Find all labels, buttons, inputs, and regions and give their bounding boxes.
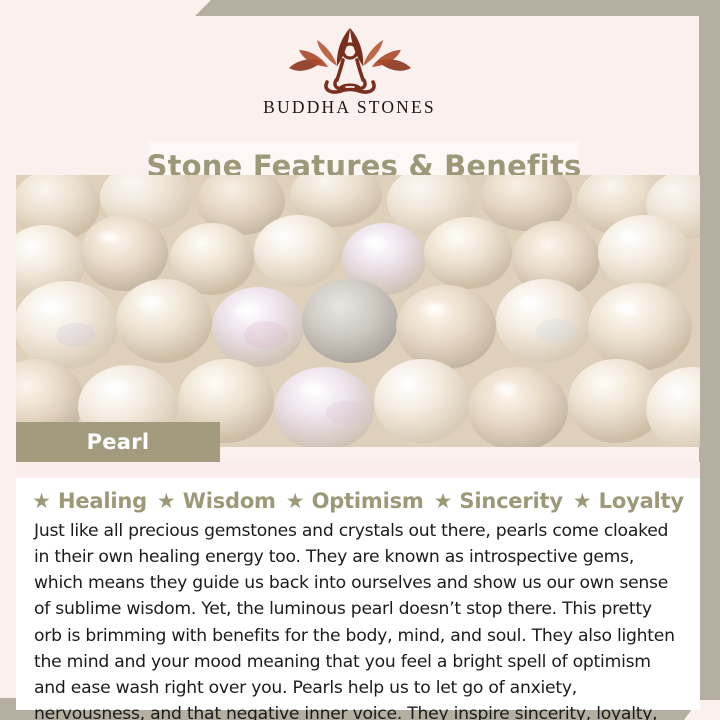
keyword-label: Loyalty xyxy=(599,489,684,513)
brand-name: BUDDHA STONES xyxy=(263,97,436,118)
separator-strip xyxy=(16,462,700,478)
stone-name-label: Pearl xyxy=(87,430,150,454)
hero-image xyxy=(16,175,700,447)
lotus-meditation-icon xyxy=(279,24,421,96)
description-paragraph: Just like all precious gemstones and cry… xyxy=(30,518,686,720)
keyword-sincerity: ★ Sincerity xyxy=(434,489,563,513)
content-card: ★ Healing ★ Wisdom ★ Optimism ★ Sincerit… xyxy=(16,478,700,710)
star-icon: ★ xyxy=(286,491,305,512)
keyword-wisdom: ★ Wisdom xyxy=(157,489,276,513)
poster: BUDDHA STONES Stone Features & Benefits xyxy=(0,0,720,720)
star-icon: ★ xyxy=(32,491,51,512)
star-icon: ★ xyxy=(434,491,453,512)
decorative-band-top xyxy=(195,0,720,16)
star-icon: ★ xyxy=(157,491,176,512)
star-icon: ★ xyxy=(573,491,592,512)
keyword-label: Optimism xyxy=(312,489,424,513)
poster-page: BUDDHA STONES Stone Features & Benefits xyxy=(0,16,699,698)
keyword-healing: ★ Healing xyxy=(32,489,147,513)
decorative-band-right xyxy=(699,0,720,700)
keyword-loyalty: ★ Loyalty xyxy=(573,489,684,513)
brand-header: BUDDHA STONES xyxy=(0,16,699,126)
keyword-label: Sincerity xyxy=(459,489,562,513)
pearl-photo xyxy=(16,175,700,447)
keyword-optimism: ★ Optimism xyxy=(286,489,424,513)
stone-name-chip: Pearl xyxy=(16,422,220,462)
benefit-keywords: ★ Healing ★ Wisdom ★ Optimism ★ Sincerit… xyxy=(30,484,686,518)
keyword-label: Healing xyxy=(58,489,147,513)
keyword-label: Wisdom xyxy=(183,489,276,513)
